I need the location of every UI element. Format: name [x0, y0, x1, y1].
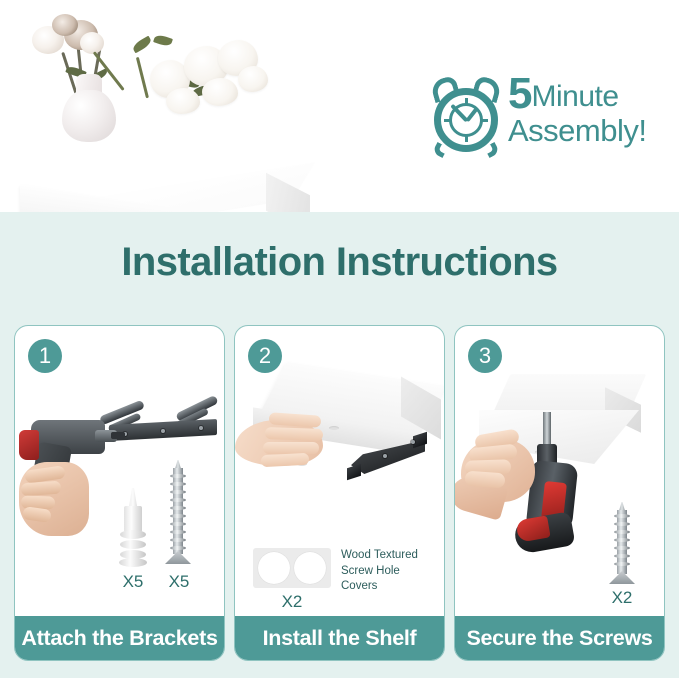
screw-thread [170, 498, 186, 502]
cover-dot [258, 552, 290, 584]
assembly-minutes-unit: Minute [531, 80, 618, 113]
assembly-text: 5Minute Assembly! [508, 72, 646, 146]
hand-finger [265, 427, 323, 441]
step-card-3: 3 [454, 325, 665, 661]
screw-qty-label: X2 [601, 588, 643, 608]
wall-anchor-icon [119, 488, 147, 564]
hand-icon [235, 412, 331, 472]
bracket-screw-hole [161, 429, 165, 433]
hand-finger [21, 481, 62, 497]
anchor-qty-label: X5 [111, 572, 155, 592]
orchid-bloom [238, 66, 268, 92]
anchor-thread [120, 530, 146, 539]
steps-container: 1 [14, 325, 665, 661]
hand-finger [263, 442, 319, 454]
clock-face [434, 88, 498, 152]
screw-thread [170, 474, 186, 478]
floating-shelf [14, 100, 302, 196]
cover-dot [294, 552, 326, 584]
screw-thread [170, 506, 186, 510]
screw-thread [614, 554, 630, 558]
hand-icon [461, 422, 565, 508]
screw-thread [614, 538, 630, 542]
screw-hole-covers-label: Wood Textured Screw Hole Covers [341, 548, 441, 595]
drill-bit [111, 432, 125, 439]
screw-thread [614, 530, 630, 534]
power-drill-icon [19, 414, 125, 530]
assembly-minutes-number: 5 [508, 69, 531, 118]
flower-bloom [52, 14, 78, 36]
hand-finger [465, 471, 506, 489]
assembly-time-badge: 5Minute Assembly! [430, 74, 670, 160]
step-number-badge-1: 1 [28, 339, 62, 373]
covers-qty-label: X2 [253, 592, 331, 612]
mounted-bracket-icon [347, 430, 435, 486]
bracket-screw-hole [383, 454, 387, 458]
step-caption-2: Install the Shelf [235, 616, 444, 660]
step-number-badge-3: 3 [468, 339, 502, 373]
screw-head [165, 551, 191, 564]
hand-finger [261, 453, 310, 467]
screw-thread [170, 490, 186, 494]
anchor-body [124, 506, 142, 532]
anchor-thread [119, 558, 147, 567]
bracket-screw-hole [411, 440, 415, 444]
hero-banner: 5Minute Assembly! [0, 0, 679, 212]
flower-bloom [80, 32, 104, 54]
screw-thread [614, 562, 630, 566]
screw-thread [614, 546, 630, 550]
bracket-foot-left [347, 464, 361, 481]
installation-instructions-section: Installation Instructions 1 [0, 212, 679, 678]
screw-thread [614, 514, 630, 518]
orchid-stem [136, 57, 149, 98]
screw-thread [170, 482, 186, 486]
screw-head [609, 571, 635, 584]
screw-qty-label: X5 [157, 572, 201, 592]
page-title: Installation Instructions [0, 240, 679, 285]
product-shelf-image [6, 12, 306, 202]
screw-thread [170, 538, 186, 542]
step-caption-3: Secure the Screws [455, 616, 664, 660]
orchid-leaf [153, 33, 173, 47]
wood-screw-icon [165, 460, 191, 564]
screw-thread [170, 514, 186, 518]
screw-thread [170, 530, 186, 534]
step-card-2: 2 [234, 325, 445, 661]
bracket-screw-hole [199, 426, 203, 430]
screw-thread [614, 522, 630, 526]
step-number-badge-2: 2 [248, 339, 282, 373]
anchor-thread [120, 540, 146, 549]
wood-screw-icon [609, 502, 635, 584]
drill-red-accent [19, 430, 39, 460]
screw-hole-covers-icon [253, 548, 331, 588]
screw-thread [170, 546, 186, 550]
orchid-leaf [131, 36, 153, 54]
screw-thread [170, 522, 186, 526]
alarm-clock-icon [430, 78, 502, 156]
assembly-label: Assembly! [508, 115, 646, 147]
step-caption-1: Attach the Brackets [15, 616, 224, 660]
step-card-1: 1 [14, 325, 225, 661]
